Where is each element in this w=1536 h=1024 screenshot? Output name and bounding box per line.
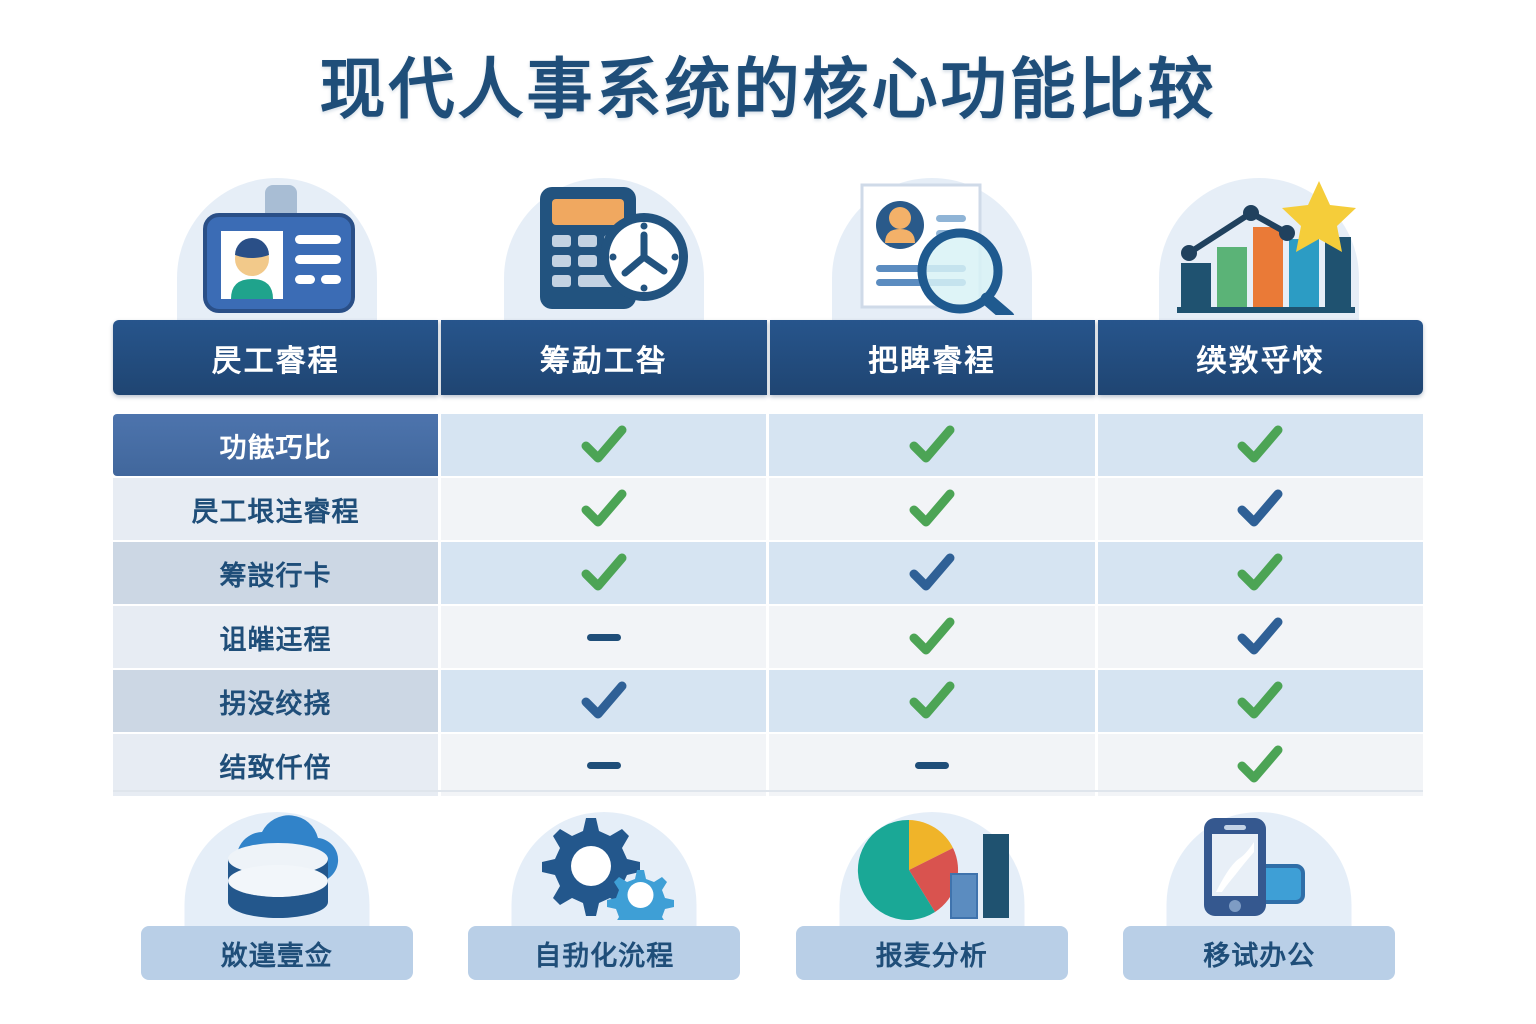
cell-mark [441, 606, 766, 668]
top-icon-cell-3 [768, 175, 1096, 320]
cell-mark [1098, 542, 1423, 604]
bar-chart-star-icon [1159, 175, 1359, 320]
calculator-clock-icon [504, 175, 704, 320]
pie-bar-chart-icon [847, 808, 1017, 920]
cell-mark [769, 542, 1094, 604]
top-icon-cell-1 [113, 175, 441, 320]
cell-mark [1098, 734, 1423, 796]
feature-cell-1: 敚遑壹佥 [113, 800, 441, 980]
page-title: 现代人事系统的核心功能比较 [0, 36, 1536, 132]
cell-mark [1098, 606, 1423, 668]
cell-mark [769, 414, 1094, 476]
row-label: 功䏻巧比 [113, 414, 438, 476]
top-icon-strip [113, 175, 1423, 320]
column-header-4[interactable]: 绬敩寽恔 [1098, 320, 1423, 395]
table-header-row: 昃工睿程 筹勐工咎 把睥睿裎 绬敩寽恔 [113, 320, 1423, 395]
cell-mark [769, 734, 1094, 796]
row-label: 诅皠迋程 [113, 606, 438, 668]
table-row: 诅皠迋程 [113, 606, 1423, 668]
table-row: 结致仟倍 [113, 734, 1423, 796]
feature-cell-2: 自劧化沇程 [441, 800, 769, 980]
cell-mark [769, 478, 1094, 540]
feature-cell-4: 移试办公 [1096, 800, 1424, 980]
cell-mark [441, 670, 766, 732]
feature-cell-3: 报麦分析 [768, 800, 1096, 980]
column-header-2[interactable]: 筹勐工咎 [441, 320, 766, 395]
cell-mark [769, 606, 1094, 668]
cell-mark [1098, 670, 1423, 732]
cell-mark [441, 478, 766, 540]
feature-label[interactable]: 敚遑壹佥 [141, 926, 413, 980]
feature-label[interactable]: 报麦分析 [796, 926, 1068, 980]
cell-mark [441, 414, 766, 476]
top-icon-cell-4 [1096, 175, 1424, 320]
cell-mark [1098, 478, 1423, 540]
cloud-database-icon [192, 808, 362, 920]
row-label: 筹詜行卡 [113, 542, 438, 604]
column-header-1[interactable]: 昃工睿程 [113, 320, 438, 395]
top-icon-cell-2 [441, 175, 769, 320]
cell-mark [1098, 414, 1423, 476]
row-label: 结致仟倍 [113, 734, 438, 796]
comparison-table: 功䏻巧比 昃工垠迬睿程 筹詜行卡 诅皠迋程 拐没绞挠 [113, 414, 1423, 798]
infographic-page: 现代人事系统的核心功能比较 [0, 0, 1536, 1024]
row-label: 拐没绞挠 [113, 670, 438, 732]
table-row: 昃工垠迬睿程 [113, 478, 1423, 540]
table-row: 筹詜行卡 [113, 542, 1423, 604]
feature-label[interactable]: 自劧化沇程 [468, 926, 740, 980]
cell-mark [769, 670, 1094, 732]
section-divider [113, 790, 1423, 792]
table-row: 功䏻巧比 [113, 414, 1423, 476]
gears-icon [519, 808, 689, 920]
cell-mark [441, 542, 766, 604]
table-row: 拐没绞挠 [113, 670, 1423, 732]
feature-label[interactable]: 移试办公 [1123, 926, 1395, 980]
mobile-device-icon [1174, 808, 1344, 920]
cell-mark [441, 734, 766, 796]
column-header-3[interactable]: 把睥睿裎 [770, 320, 1095, 395]
bottom-feature-strip: 敚遑壹佥 自劧化沇程 [113, 800, 1423, 980]
row-label: 昃工垠迬睿程 [113, 478, 438, 540]
resume-search-icon [832, 175, 1032, 320]
id-badge-icon [177, 175, 377, 320]
